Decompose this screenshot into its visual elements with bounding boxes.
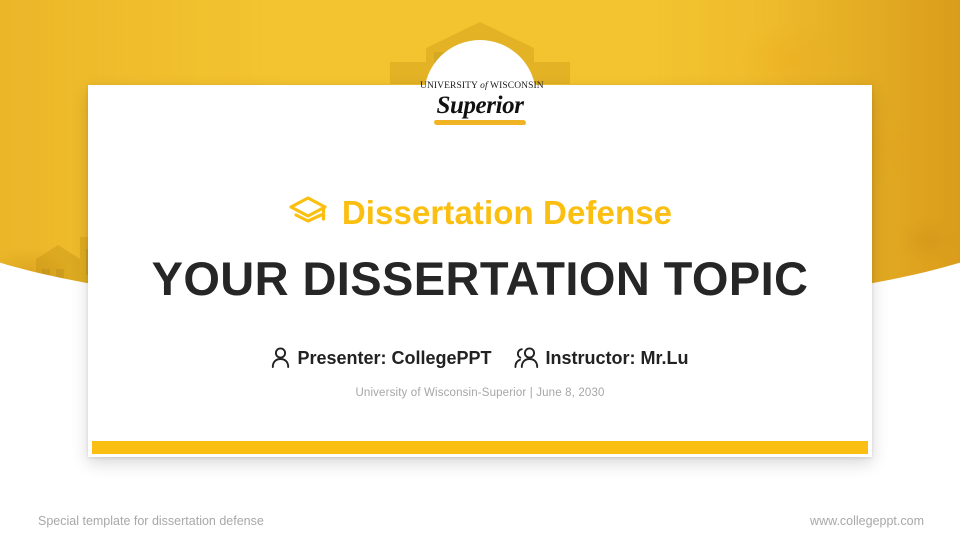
people-row: Presenter: CollegePPT Instructor: Mr.Lu [0,347,960,368]
presenter-block: Presenter: CollegePPT [271,347,491,368]
logo-wordmark-line: UNIVERSITY of WISCONSIN [420,82,540,92]
card-accent-bar [92,441,868,454]
instructor-block: Instructor: Mr.Lu [514,347,689,368]
instructor-label: Instructor: Mr.Lu [546,349,689,367]
people-group-icon [514,347,539,368]
logo-brush-stroke [433,120,526,125]
page-title: YOUR DISSERTATION TOPIC [0,253,960,305]
footer-left-text: Special template for dissertation defens… [38,514,264,528]
presentation-slide: UNIVERSITY of WISCONSIN Superior Dissert… [0,0,960,540]
meta-line: University of Wisconsin-Superior | June … [0,387,960,399]
presenter-label: Presenter: CollegePPT [297,349,491,367]
eyebrow-label: Dissertation Defense [342,196,672,229]
person-icon [271,347,290,368]
logo-word-of: of [480,81,488,91]
logo-word-wisconsin: WISCONSIN [490,81,544,91]
footer-right-text: www.collegeppt.com [810,514,924,528]
university-logo: UNIVERSITY of WISCONSIN Superior [420,82,540,130]
logo-word-university: UNIVERSITY [420,81,478,91]
logo-script-superior: Superior [420,93,540,119]
graduation-cap-icon [288,194,328,230]
eyebrow-row: Dissertation Defense [0,194,960,230]
